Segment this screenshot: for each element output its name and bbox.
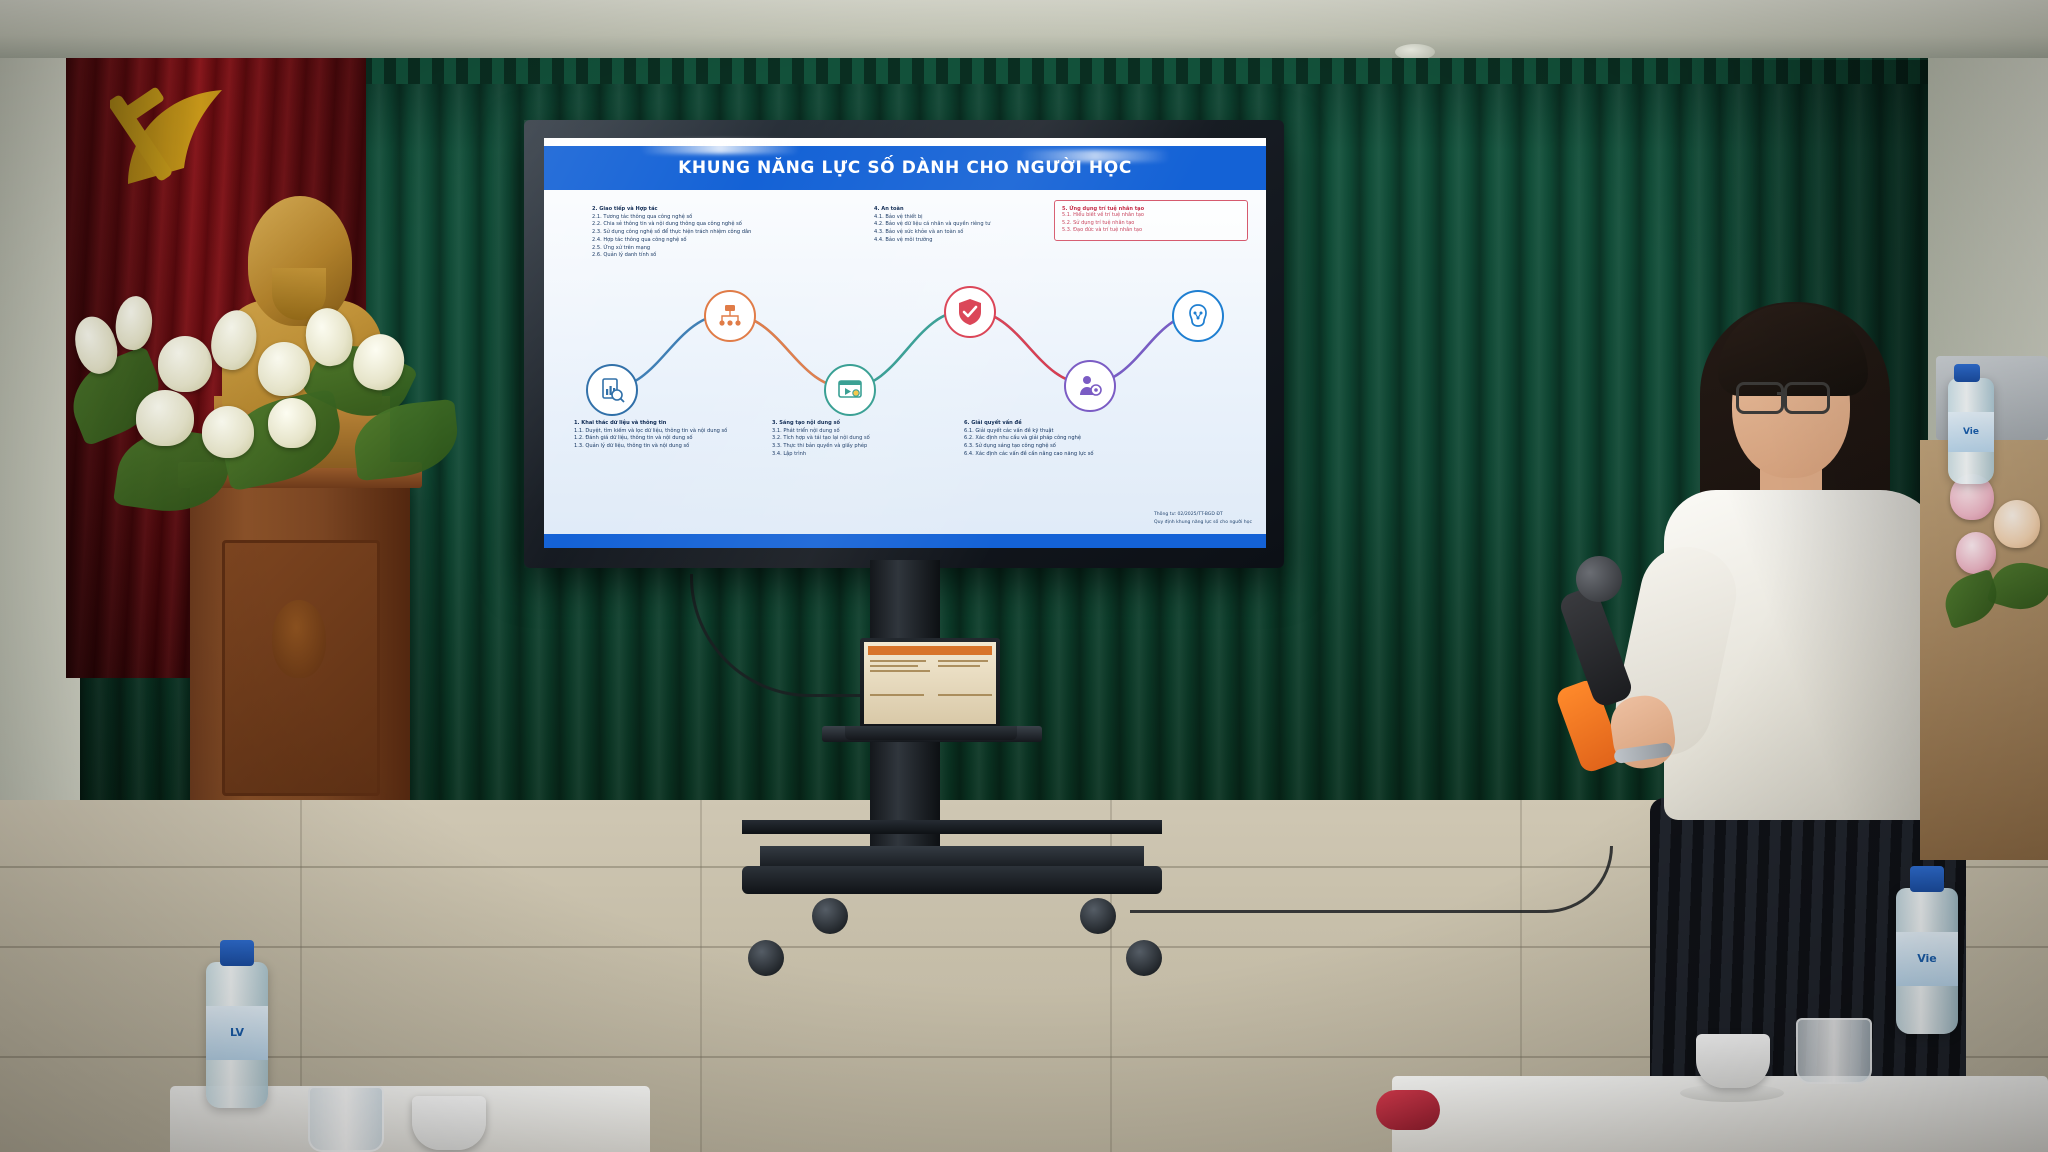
section-item: 5.3. Đạo đức và trí tuệ nhân tạo (1062, 227, 1240, 235)
laptop-slide-title-bar (868, 646, 992, 655)
bottle-label: Vie (1948, 412, 1994, 452)
shield-check-icon (944, 286, 996, 338)
floor-cable (1130, 846, 1613, 913)
person-gear-icon (1064, 360, 1116, 412)
presentation-slide: KHUNG NĂNG LỰC SỐ DÀNH CHO NGƯỜI HỌC 2. … (544, 138, 1266, 548)
rose-arrangement (1944, 470, 2048, 670)
laptop-lid (860, 638, 1000, 728)
competency-wave-infographic (570, 280, 1240, 410)
drinking-glass (1796, 1018, 1872, 1084)
footer-line-2: Quy định khung năng lực số cho người học (1154, 519, 1252, 526)
section-heading: 3. Sáng tạo nội dung số (772, 420, 940, 428)
section-item: 5.1. Hiểu biết về trí tuệ nhân tạo (1062, 212, 1240, 220)
footer-line-1: Thông tư: 02/2025/TT-BGD ĐT (1154, 511, 1252, 518)
lotus-flower-arrangement (62, 280, 482, 530)
media-content-icon (824, 364, 876, 416)
section-item: 4.4. Bảo vệ môi trường (874, 237, 1032, 245)
section-item: 6.4. Xác định các vấn đề cần nâng cao nă… (964, 451, 1142, 459)
water-bottle: Vie (1896, 888, 1958, 1034)
bottle-label-text: LV (206, 1006, 268, 1060)
eyeglasses-icon (1784, 382, 1830, 414)
bottle-label-text: Vie (1896, 932, 1958, 986)
slide-section-4: 4. An toàn 4.1. Bảo vệ thiết bị 4.2. Bảo… (874, 206, 1032, 245)
tv-stand-foot (742, 866, 1162, 894)
caster-wheel (812, 898, 848, 934)
section-item: 5.2. Sử dụng trí tuệ nhân tạo (1062, 220, 1240, 228)
eyeglasses-bridge (1777, 392, 1787, 395)
section-item: 6.3. Sử dụng sáng tạo công nghệ số (964, 443, 1142, 451)
slide-section-1: 1. Khai thác dữ liệu và thông tin 1.1. D… (574, 420, 742, 451)
eyeglasses-icon (1736, 382, 1784, 414)
section-item: 2.4. Hợp tác thông qua công nghệ số (592, 237, 824, 245)
slide-bottom-bar (544, 534, 1266, 548)
slide-title-bar: KHUNG NĂNG LỰC SỐ DÀNH CHO NGƯỜI HỌC (544, 146, 1266, 190)
section-item: 3.3. Thực thi bản quyền và giấy phép (772, 443, 940, 451)
caster-wheel (748, 940, 784, 976)
laptop-keyboard-base (845, 726, 1017, 740)
section-item: 3.4. Lập trình (772, 451, 940, 459)
coffee-cup (1696, 1034, 1770, 1088)
section-item: 2.3. Sử dụng công nghệ số để thực hiện t… (592, 229, 824, 237)
caster-wheel (1080, 898, 1116, 934)
section-item: 4.3. Bảo vệ sức khỏe và an toàn số (874, 229, 1032, 237)
data-search-icon (586, 364, 638, 416)
ceiling (0, 0, 2048, 64)
section-item: 2.6. Quản lý danh tính số (592, 252, 824, 260)
bottle-label: LV (206, 1006, 268, 1060)
bottle-cap (1910, 866, 1944, 892)
slide-section-6: 6. Giải quyết vấn đề 6.1. Giải quyết các… (964, 420, 1142, 459)
podium-emblem (272, 600, 326, 678)
slide-section-2: 2. Giao tiếp và Hợp tác 2.1. Tương tác t… (592, 206, 824, 260)
drinking-glass (308, 1086, 384, 1152)
bottle-cap (1954, 364, 1980, 382)
tv-screen: KHUNG NĂNG LỰC SỐ DÀNH CHO NGƯỜI HỌC 2. … (544, 138, 1266, 548)
laptop-screen-content (864, 642, 996, 724)
red-item-on-table (1376, 1090, 1440, 1130)
coffee-cup (412, 1096, 486, 1150)
slide-section-5-highlight-box: 5. Ứng dụng trí tuệ nhân tạo 5.1. Hiểu b… (1054, 200, 1248, 241)
caster-wheel (1126, 940, 1162, 976)
section-heading: 1. Khai thác dữ liệu và thông tin (574, 420, 742, 428)
presentation-scene-photo: KHUNG NĂNG LỰC SỐ DÀNH CHO NGƯỜI HỌC 2. … (0, 0, 2048, 1152)
section-heading: 6. Giải quyết vấn đề (964, 420, 1142, 428)
bottle-label: Vie (1896, 932, 1958, 986)
section-item: 1.3. Quản lý dữ liệu, thông tin và nội d… (574, 443, 742, 451)
bottle-label-text: Vie (1948, 412, 1994, 452)
people-network-icon (704, 290, 756, 342)
bottle-cap (220, 940, 254, 966)
ai-chip-icon (1172, 290, 1224, 342)
tv-stand-foot-upper (760, 846, 1144, 868)
slide-title: KHUNG NĂNG LỰC SỐ DÀNH CHO NGƯỜI HỌC (678, 158, 1132, 178)
tv-stand-crossbar (742, 820, 1162, 834)
water-bottle: Vie (1948, 378, 1994, 484)
section-heading: 4. An toàn (874, 206, 1032, 214)
slide-footer-note: Thông tư: 02/2025/TT-BGD ĐT Quy định khu… (1154, 511, 1252, 526)
slide-section-3: 3. Sáng tạo nội dung số 3.1. Phát triển … (772, 420, 940, 459)
section-heading: 2. Giao tiếp và Hợp tác (592, 206, 824, 214)
water-bottle: LV (206, 962, 268, 1108)
